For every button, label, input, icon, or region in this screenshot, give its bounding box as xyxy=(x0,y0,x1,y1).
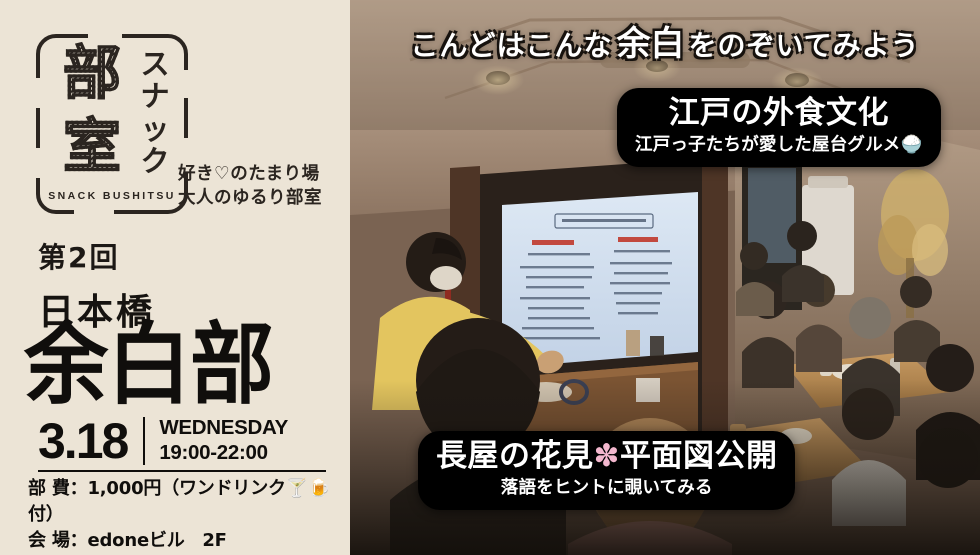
topic-label-hanami-title-part2: 平面図公開 xyxy=(620,438,778,474)
event-date: 3.18 xyxy=(38,416,143,466)
snack-bushitsu-logo: 部 室 ス ナ ッ ク SNACK BUSHITSU xyxy=(36,34,188,214)
banner-emphasis: 余白 xyxy=(617,24,685,64)
rice-bowl-icon: 🍚 xyxy=(901,135,923,155)
tagline-line-1: 好き♡のたまり場 xyxy=(178,163,322,187)
event-info: 部 費：1,000円（ワンドリンク🍸🍺付） 会 場：edoneビル 2F xyxy=(28,476,350,554)
topic-label-hanami-title-part1: 長屋の花見 xyxy=(436,438,594,474)
topic-label-edo-subtitle: 江戸っ子たちが愛した屋台グルメ🍚 xyxy=(635,134,923,157)
edition-number: 第2回 xyxy=(38,236,119,276)
date-row: 3.18 WEDNESDAY 19:00-22:00 xyxy=(38,412,316,470)
logo-kanji: 部 室 xyxy=(50,46,132,174)
logo-katakana-char-2: ナ xyxy=(140,82,169,111)
topic-label-edo-subtitle-text: 江戸っ子たちが愛した屋台グルメ xyxy=(635,135,901,155)
date-divider xyxy=(143,417,145,465)
logo-katakana-char-3: ッ xyxy=(140,115,169,144)
photo-top-banner: こんどはこんな余白をのぞいてみよう xyxy=(350,16,980,65)
event-weekday: WEDNESDAY xyxy=(159,416,288,441)
topic-label-hanami: 長屋の花見✽平面図公開 落語をヒントに覗いてみる xyxy=(418,431,795,510)
left-info-panel: 部 室 ス ナ ッ ク SNACK BUSHITSU 好き♡のたまり場 大人のゆ… xyxy=(0,0,350,555)
topic-label-hanami-title: 長屋の花見✽平面図公開 xyxy=(436,439,777,475)
topic-label-edo: 江戸の外食文化 江戸っ子たちが愛した屋台グルメ🍚 xyxy=(617,88,941,167)
logo-katakana-char-4: ク xyxy=(140,147,169,176)
date-details: WEDNESDAY 19:00-22:00 xyxy=(159,416,288,465)
topic-label-hanami-subtitle: 落語をヒントに覗いてみる xyxy=(436,477,777,500)
tagline-line-2: 大人のゆるり部室 xyxy=(178,187,322,211)
logo-romaji: SNACK BUSHITSU xyxy=(36,190,188,202)
logo-katakana: ス ナ ッ ク xyxy=(134,50,176,176)
event-time: 19:00-22:00 xyxy=(159,441,288,466)
event-photo: こんどはこんな余白をのぞいてみよう 江戸の外食文化 江戸っ子たちが愛した屋台グル… xyxy=(350,0,980,555)
logo-kanji-char-2: 室 xyxy=(63,119,119,174)
sakura-icon: ✽ xyxy=(594,438,620,474)
tagline: 好き♡のたまり場 大人のゆるり部室 xyxy=(178,163,322,210)
logo-katakana-char-1: ス xyxy=(140,50,169,79)
banner-suffix: をのぞいてみよう xyxy=(689,29,920,62)
banner-prefix: こんどはこんな xyxy=(410,29,612,62)
event-flyer: 部 室 ス ナ ッ ク SNACK BUSHITSU 好き♡のたまり場 大人のゆ… xyxy=(0,0,980,555)
event-title: 余白部 xyxy=(24,320,273,409)
fee-line: 部 費：1,000円（ワンドリンク🍸🍺付） xyxy=(28,476,350,528)
horizontal-rule xyxy=(38,470,326,472)
topic-label-edo-title: 江戸の外食文化 xyxy=(635,96,923,132)
venue-line: 会 場：edoneビル 2F xyxy=(28,528,350,554)
logo-kanji-char-1: 部 xyxy=(63,46,119,101)
